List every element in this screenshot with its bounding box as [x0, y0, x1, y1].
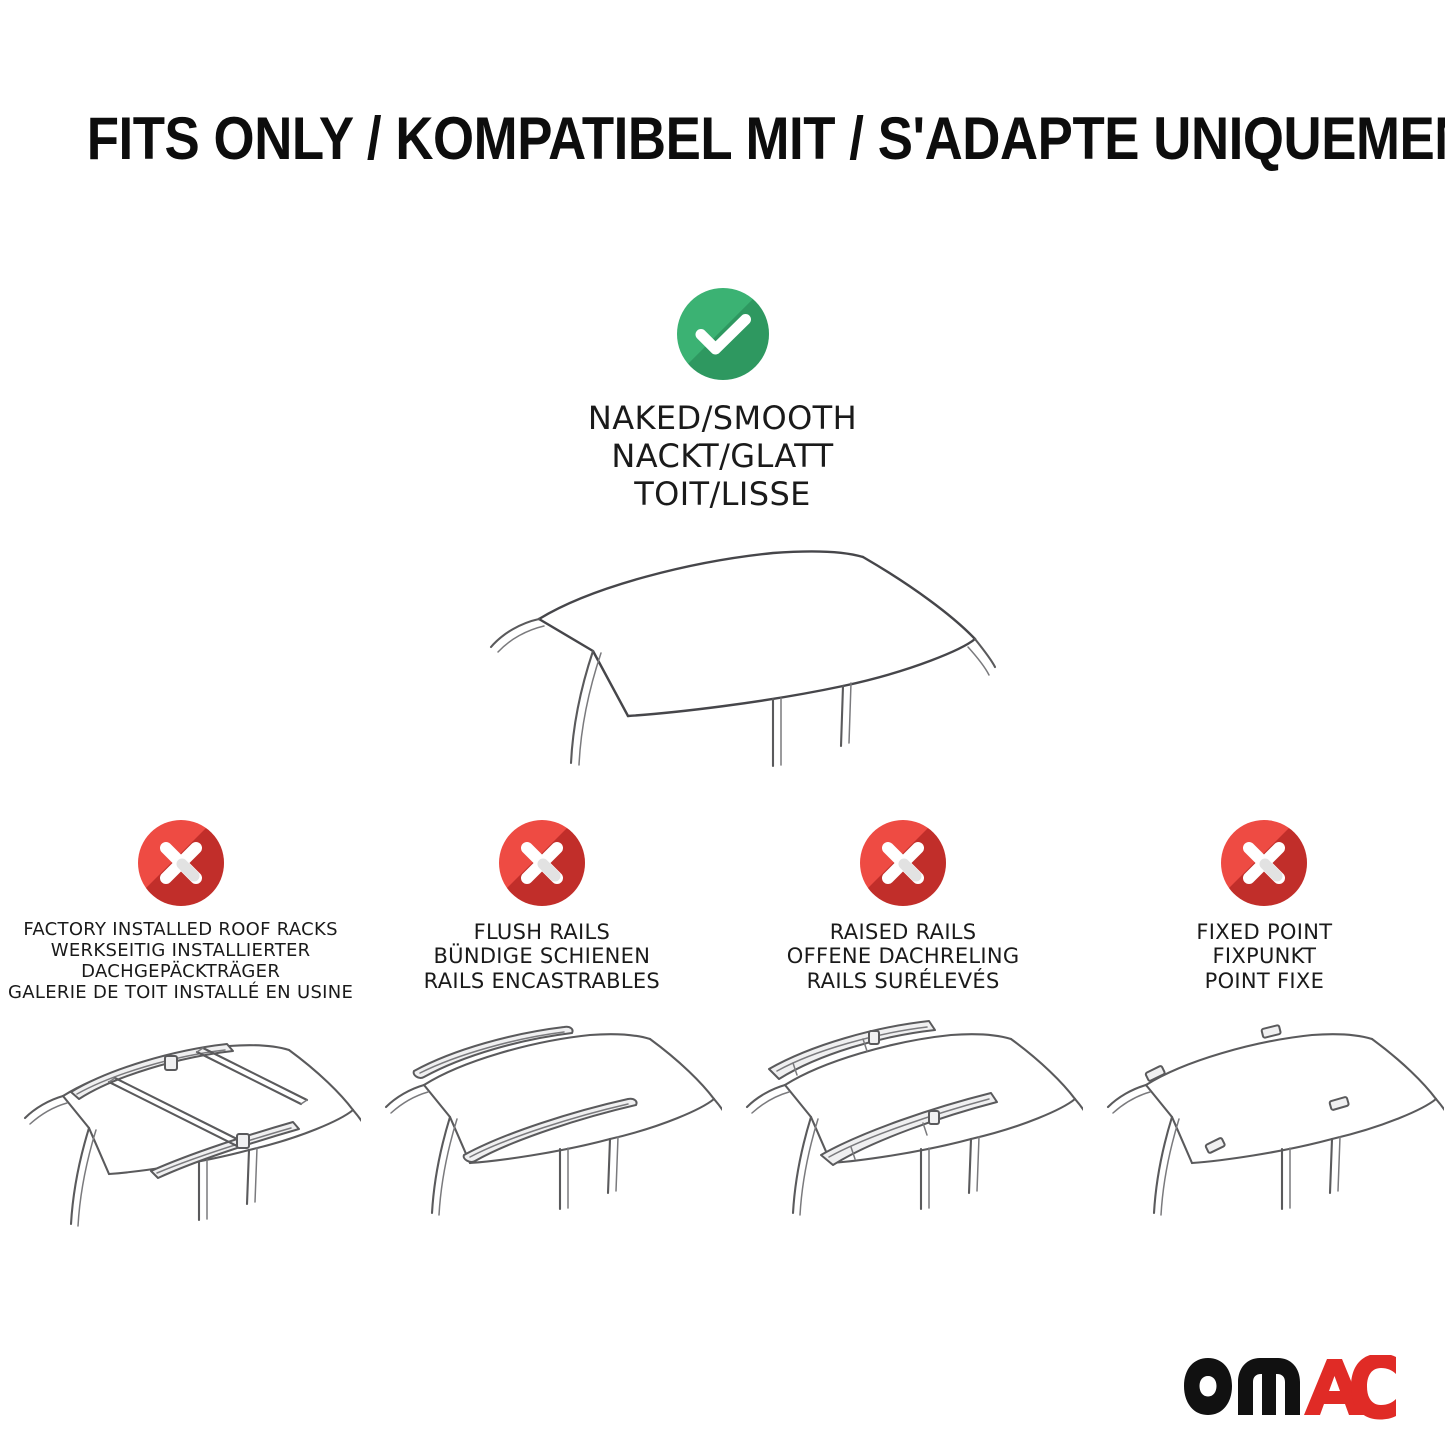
caption-line-3: POINT FIXE: [1196, 969, 1332, 993]
caption-raised-rails: RAISED RAILS OFFENE DACHRELING RAILS SUR…: [787, 920, 1020, 993]
page-title: FITS ONLY / KOMPATIBEL MIT / S'ADAPTE UN…: [87, 104, 1359, 173]
cross-icon: [499, 820, 585, 906]
caption-line-2: FIXPUNKT: [1196, 944, 1332, 968]
check-icon: [677, 288, 769, 380]
incompatible-item-factory-roof-racks: FACTORY INSTALLED ROOF RACKS WERKSEITIG …: [0, 820, 361, 1239]
caption-line-3: RAILS SURÉLEVÉS: [787, 969, 1020, 993]
car-roof-naked-smooth-illustration: [443, 531, 1003, 776]
cross-icon: [1221, 820, 1307, 906]
caption-line-1: FLUSH RAILS: [424, 920, 660, 944]
caption-line-1: FACTORY INSTALLED ROOF RACKS: [8, 920, 353, 941]
caption-line-3: DACHGEPÄCKTRÄGER: [8, 962, 353, 983]
caption-line-2: BÜNDIGE SCHIENEN: [424, 944, 660, 968]
car-roof-raised-rails-illustration: [723, 1013, 1083, 1228]
incompatible-section: FACTORY INSTALLED ROOF RACKS WERKSEITIG …: [0, 820, 1445, 1239]
compatible-line-2: NACKT/GLATT: [588, 438, 857, 476]
caption-line-2: WERKSEITIG INSTALLIERTER: [8, 941, 353, 962]
incompatible-item-fixed-point: FIXED POINT FIXPUNKT POINT FIXE: [1084, 820, 1445, 1228]
car-roof-fixed-point-illustration: [1084, 1013, 1444, 1228]
caption-line-4: GALERIE DE TOIT INSTALLÉ EN USINE: [8, 983, 353, 1004]
caption-flush-rails: FLUSH RAILS BÜNDIGE SCHIENEN RAILS ENCAS…: [424, 920, 660, 993]
cross-icon: [860, 820, 946, 906]
caption-line-1: FIXED POINT: [1196, 920, 1332, 944]
fitment-infographic: FITS ONLY / KOMPATIBEL MIT / S'ADAPTE UN…: [0, 0, 1445, 1445]
car-roof-factory-roof-racks-illustration: [1, 1024, 361, 1239]
caption-line-3: RAILS ENCASTRABLES: [424, 969, 660, 993]
cross-icon: [138, 820, 224, 906]
compatible-caption: NAKED/SMOOTH NACKT/GLATT TOIT/LISSE: [588, 400, 857, 513]
compatible-section: NAKED/SMOOTH NACKT/GLATT TOIT/LISSE: [0, 288, 1445, 776]
caption-line-1: RAISED RAILS: [787, 920, 1020, 944]
incompatible-item-flush-rails: FLUSH RAILS BÜNDIGE SCHIENEN RAILS ENCAS…: [361, 820, 722, 1228]
caption-factory-roof-racks: FACTORY INSTALLED ROOF RACKS WERKSEITIG …: [8, 920, 353, 1004]
car-roof-flush-rails-illustration: [362, 1013, 722, 1228]
caption-fixed-point: FIXED POINT FIXPUNKT POINT FIXE: [1196, 920, 1332, 993]
logo-letter-m: [1238, 1358, 1300, 1415]
logo-letter-o: [1184, 1358, 1232, 1415]
compatible-line-3: TOIT/LISSE: [588, 476, 857, 514]
caption-line-2: OFFENE DACHRELING: [787, 944, 1020, 968]
omac-logo: [1181, 1355, 1399, 1421]
compatible-line-1: NAKED/SMOOTH: [588, 400, 857, 438]
incompatible-item-raised-rails: RAISED RAILS OFFENE DACHRELING RAILS SUR…: [723, 820, 1084, 1228]
